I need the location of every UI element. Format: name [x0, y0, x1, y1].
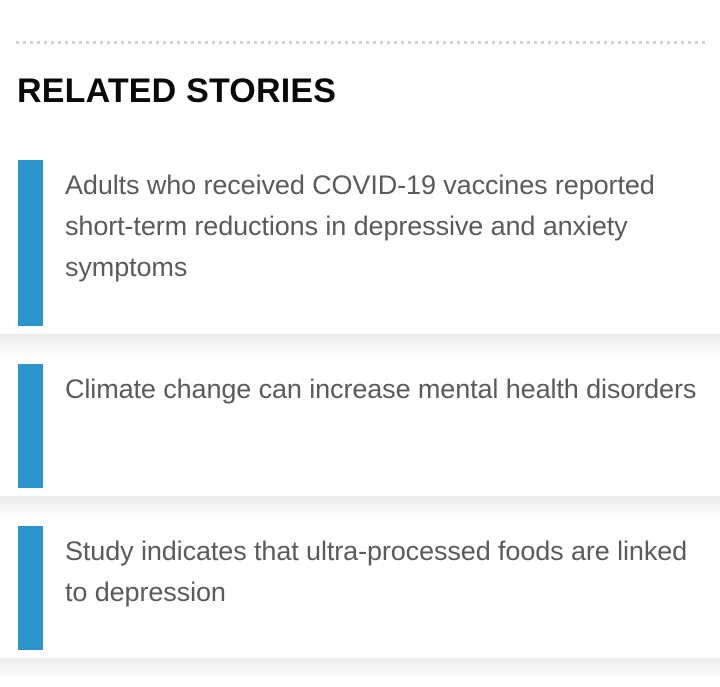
section-top-divider	[16, 41, 708, 44]
list-item[interactable]: Adults who received COVID-19 vaccines re…	[0, 152, 720, 334]
accent-bar	[18, 364, 43, 488]
related-stories-widget: RELATED STORIES Adults who received COVI…	[0, 0, 720, 687]
accent-bar	[18, 160, 43, 326]
list-item[interactable]: Study indicates that ultra-processed foo…	[0, 518, 720, 658]
list-item[interactable]: Climate change can increase mental healt…	[0, 356, 720, 496]
story-headline-link[interactable]: Adults who received COVID-19 vaccines re…	[43, 160, 720, 326]
page-title: RELATED STORIES	[17, 68, 336, 114]
related-stories-list: Adults who received COVID-19 vaccines re…	[0, 152, 720, 680]
story-headline-link[interactable]: Climate change can increase mental healt…	[43, 364, 720, 488]
story-headline-link[interactable]: Study indicates that ultra-processed foo…	[43, 526, 720, 650]
accent-bar	[18, 526, 43, 650]
